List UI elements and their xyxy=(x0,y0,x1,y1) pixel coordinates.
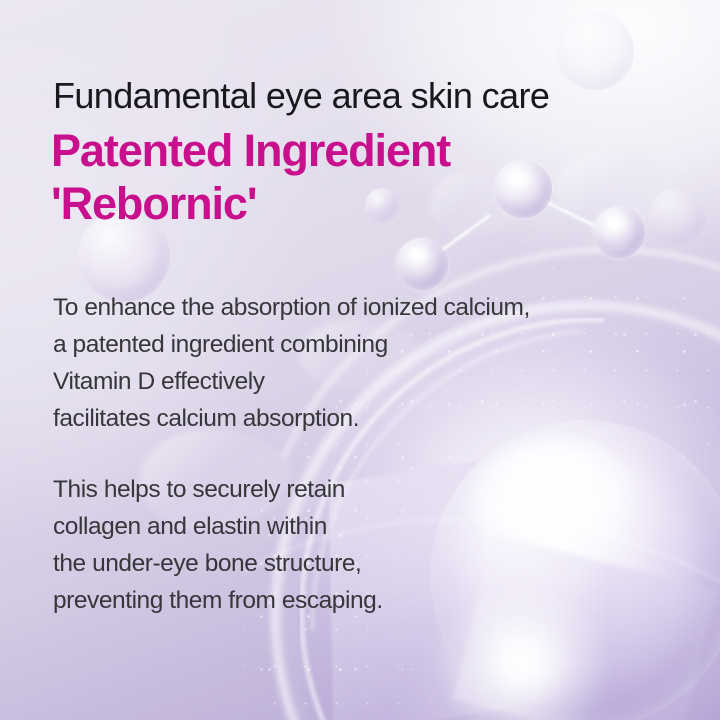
copy-line: This helps to securely retain xyxy=(53,471,613,508)
body-copy: To enhance the absorption of ionized cal… xyxy=(53,289,613,619)
headline-line-2: 'Rebornic' xyxy=(51,177,450,230)
paragraph-spacer xyxy=(53,437,613,471)
headline-line-1: Patented Ingredient xyxy=(51,124,450,177)
paragraph-retention: This helps to securely retain collagen a… xyxy=(53,471,613,619)
page-title: Patented Ingredient 'Rebornic' xyxy=(51,124,450,230)
eyebrow-heading: Fundamental eye area skin care xyxy=(53,74,549,118)
copy-line: To enhance the absorption of ionized cal… xyxy=(53,289,613,326)
copy-line: the under-eye bone structure, xyxy=(53,545,613,582)
copy-line: Vitamin D effectively xyxy=(53,363,613,400)
copy-line: collagen and elastin within xyxy=(53,508,613,545)
text-content: Fundamental eye area skin care Patented … xyxy=(53,0,693,720)
promo-card: Fundamental eye area skin care Patented … xyxy=(0,0,720,720)
copy-line: preventing them from escaping. xyxy=(53,582,613,619)
copy-line: a patented ingredient combining xyxy=(53,326,613,363)
paragraph-absorption: To enhance the absorption of ionized cal… xyxy=(53,289,613,437)
copy-line: facilitates calcium absorption. xyxy=(53,400,613,437)
